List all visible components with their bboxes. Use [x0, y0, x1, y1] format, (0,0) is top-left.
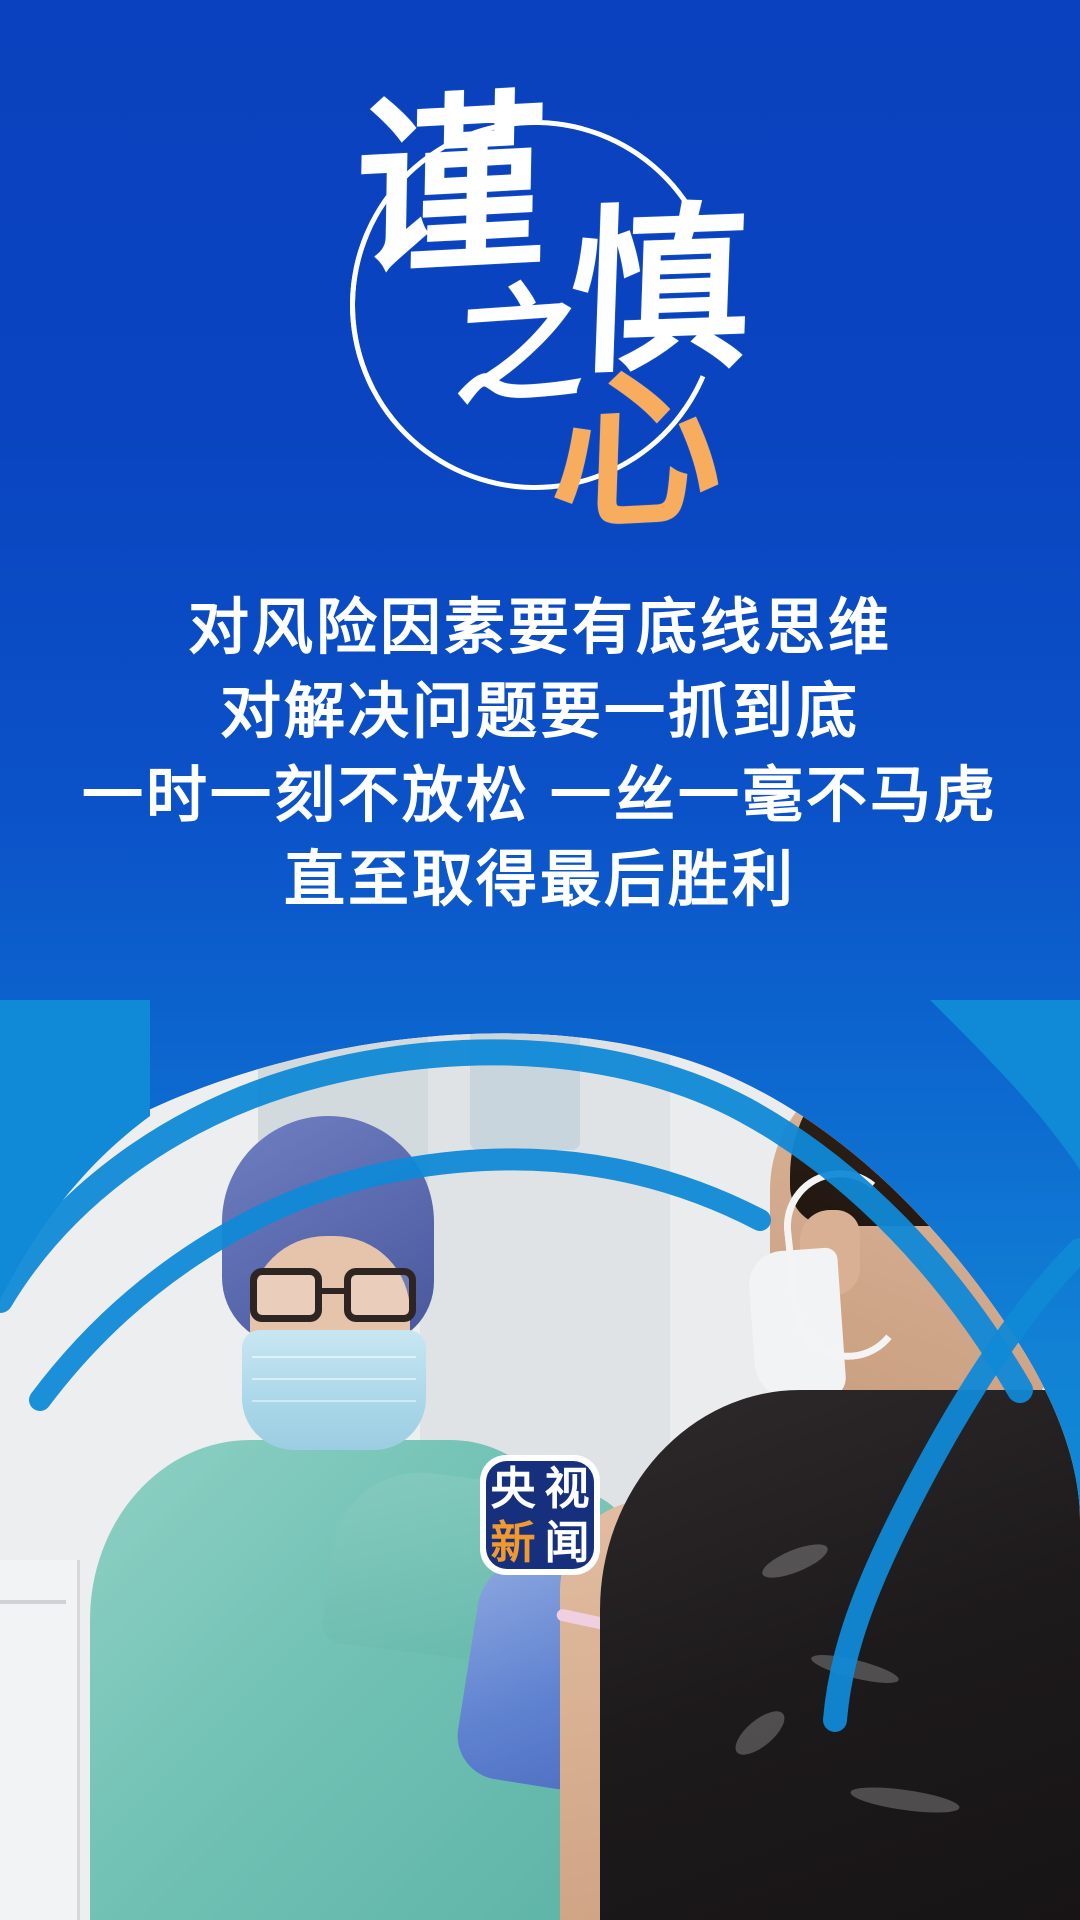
- cctv-news-badge-inner: 央 视 新 闻: [486, 1461, 594, 1569]
- cctv-char-xin: 新: [490, 1520, 535, 1565]
- slogan-line-3: 一时一刻不放松 一丝一毫不马虎: [0, 753, 1080, 837]
- calligraphy-stage: 谨 之 慎 心: [330, 70, 750, 520]
- cctv-char-shi: 视: [544, 1466, 589, 1511]
- nurse-glasses: [250, 1268, 416, 1322]
- slogan-block: 对风险因素要有底线思维 对解决问题要一抓到底 一时一刻不放松 一丝一毫不马虎 直…: [0, 585, 1080, 921]
- cctv-char-yang: 央: [490, 1466, 535, 1511]
- cctv-char-wen: 闻: [544, 1520, 589, 1565]
- nurse-face-mask: [242, 1330, 426, 1450]
- slogan-line-4: 直至取得最后胜利: [0, 837, 1080, 921]
- poster-logo: 谨 之 慎 心: [0, 70, 1080, 540]
- calligraphy-char-xin: 心: [549, 362, 726, 541]
- slogan-line-2: 对解决问题要一抓到底: [0, 669, 1080, 753]
- wall-panel: [470, 1000, 580, 1150]
- patient-shirt: [600, 1390, 1080, 1920]
- clinic-cabinet: [0, 1560, 80, 1920]
- poster-root: 谨 之 慎 心 对风险因素要有底线思维 对解决问题要一抓到底 一时一刻不放松 一…: [0, 0, 1080, 1920]
- slogan-line-1: 对风险因素要有底线思维: [0, 585, 1080, 669]
- calligraphy-char-jin: 谨: [354, 87, 548, 287]
- cctv-news-badge[interactable]: 央 视 新 闻: [480, 1455, 600, 1575]
